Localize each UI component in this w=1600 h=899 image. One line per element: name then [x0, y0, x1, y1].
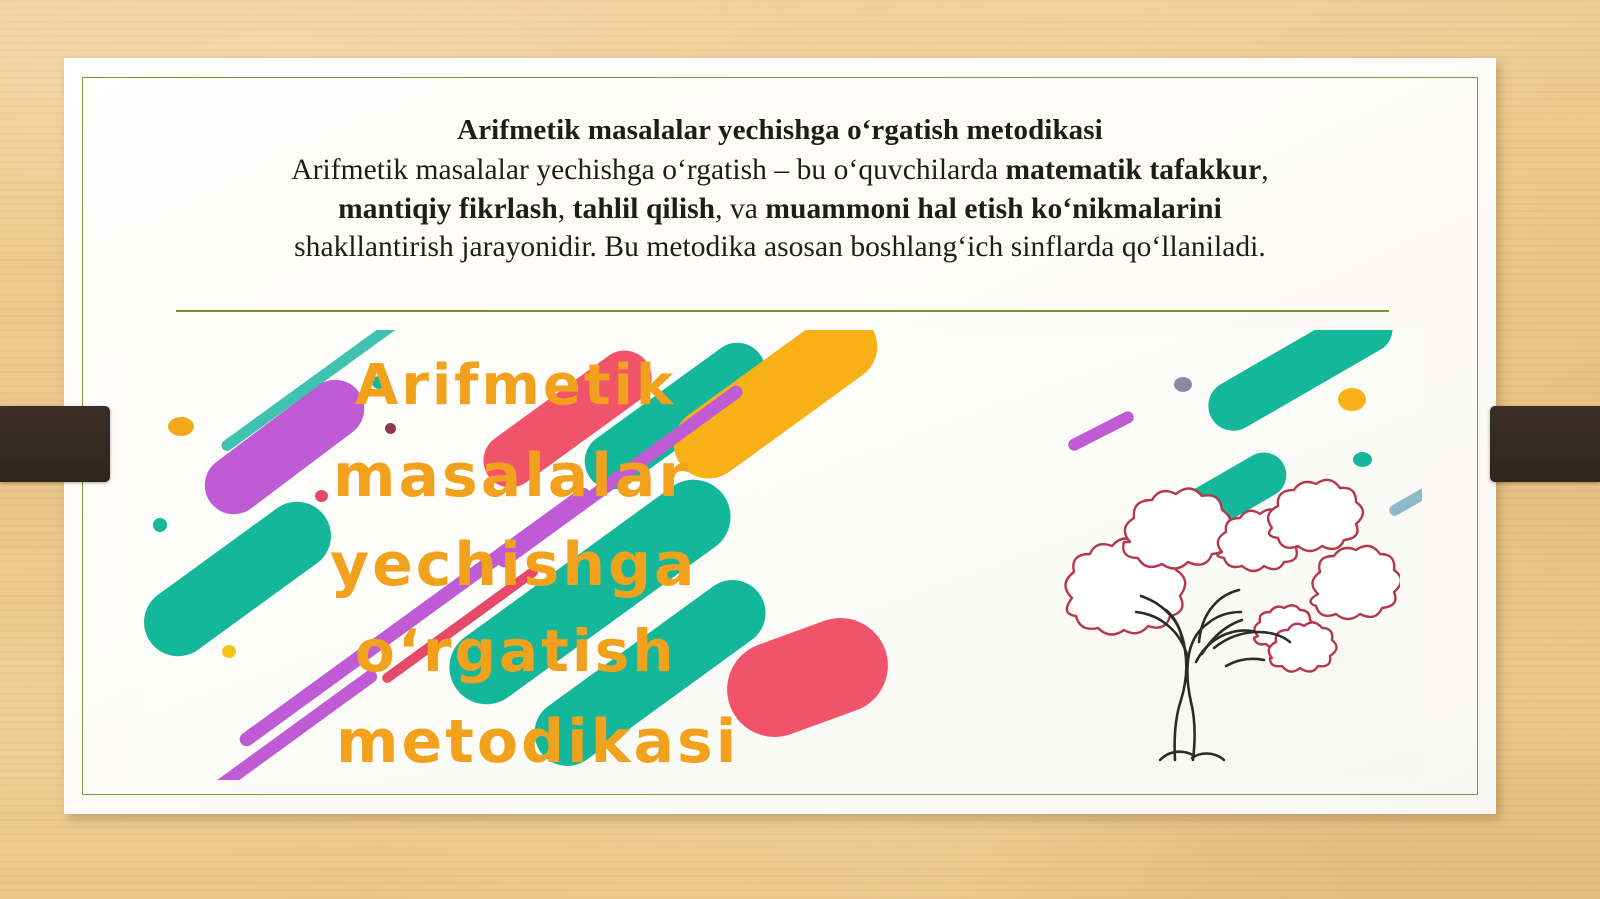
body-line-1-segment-2: matematik tafakkur: [1006, 154, 1262, 186]
right-dark-bar: [1490, 406, 1600, 482]
shape-teal-pill-top-right: [1199, 330, 1402, 440]
body-line-2-segment-5: muammoni hal etish ko‘nikmalarini: [765, 193, 1222, 225]
body-line-2-segment-1: mantiqiy fikrlash: [338, 193, 558, 225]
page-title: Arifmetik masalalar yechishga o‘rgatish …: [130, 110, 1430, 151]
body-line-1-segment-3: ,: [1261, 154, 1268, 186]
shape-orange-pill-upper: [660, 330, 891, 492]
shape-orange-dot-left: [168, 417, 194, 436]
body-line-3-segment-1: shakllantirish jarayonidir. Bu metodika …: [294, 231, 1266, 263]
illus-word-5: metodikasi: [336, 712, 739, 772]
left-dark-bar: [0, 406, 110, 482]
slide-text-block: Arifmetik masalalar yechishga o‘rgatish …: [130, 110, 1430, 267]
body-line-2-segment-2: ,: [558, 193, 573, 225]
presentation-slide: Arifmetik masalalar yechishga o‘rgatish …: [64, 58, 1496, 814]
body-line-2-segment-3: tahlil qilish: [573, 193, 715, 225]
shape-purple-dash-right: [1066, 409, 1136, 452]
shape-teal-dot-small-left: [153, 518, 167, 532]
body-line-2-segment-4: , va: [715, 193, 765, 225]
horizontal-divider: [176, 310, 1389, 312]
illus-word-4: o‘rgatish: [355, 622, 677, 680]
illus-word-1: Arifmetik: [355, 358, 676, 414]
desk-background: Arifmetik masalalar yechishga o‘rgatish …: [0, 0, 1600, 899]
illus-word-3: yechishga: [330, 535, 698, 595]
shape-teal-pill-mid-left: [140, 488, 344, 669]
shape-orange-dot-right: [1338, 388, 1366, 411]
body-line-2: mantiqiy fikrlash, tahlil qilish, va mua…: [130, 190, 1430, 229]
body-line-1: Arifmetik masalalar yechishga o‘rgatish …: [130, 151, 1430, 190]
illus-word-2: masalalar: [333, 446, 691, 506]
body-line-3: shakllantirish jarayonidir. Bu metodika …: [130, 228, 1430, 267]
cover-illustration: Arifmetik masalalar yechishga o‘rgatish …: [140, 330, 1422, 780]
shape-grey-dot-right: [1174, 377, 1192, 392]
shape-teal-dot-right: [1353, 452, 1372, 467]
shape-yellow-dot-lower: [222, 645, 236, 658]
body-line-1-segment-1: Arifmetik masalalar yechishga o‘rgatish …: [291, 154, 1005, 186]
shape-maroon-dot: [385, 423, 396, 434]
shape-pink-dot-left: [315, 490, 328, 502]
tree-line-drawing: [1000, 470, 1400, 770]
